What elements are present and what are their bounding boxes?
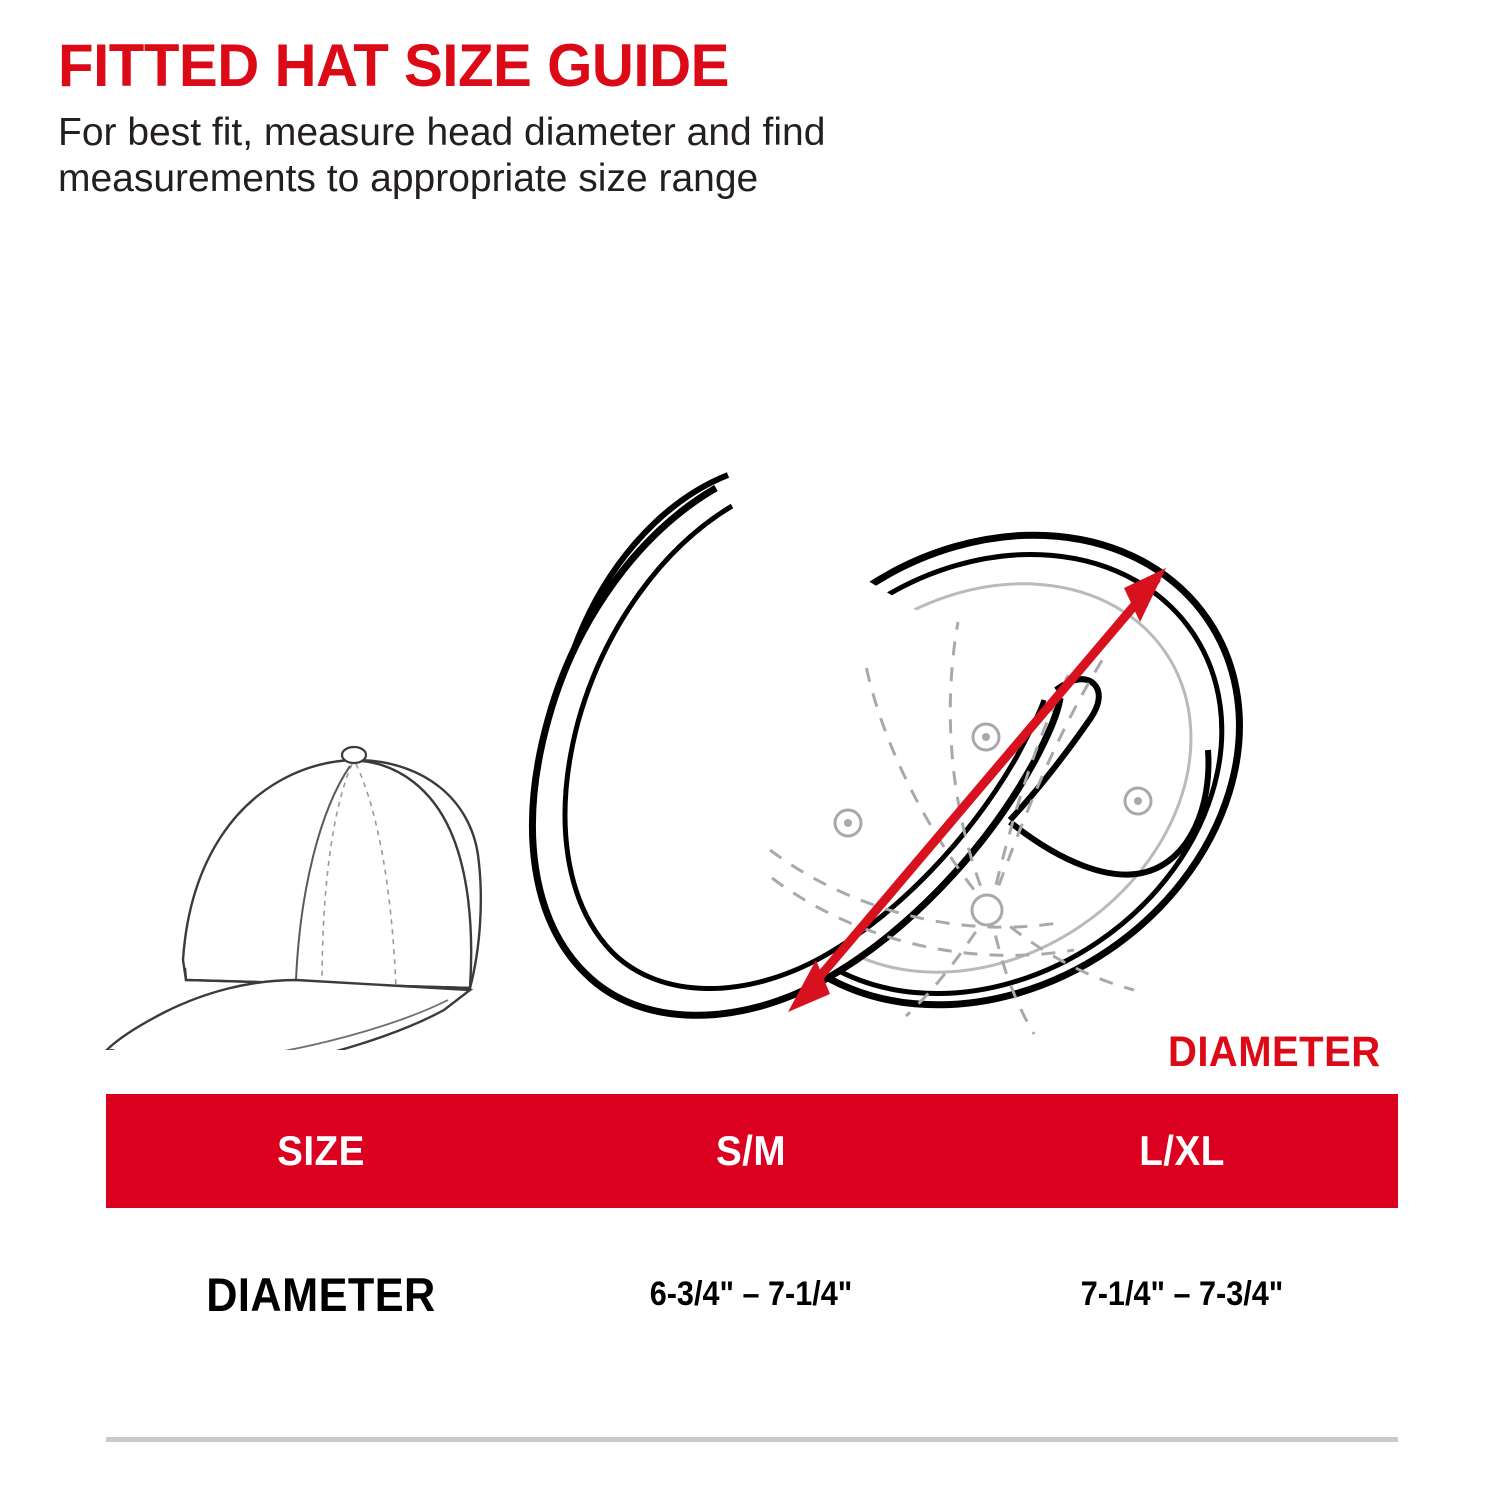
table-row: DIAMETER 6-3/4" – 7-1/4" 7-1/4" – 7-3/4" [106, 1208, 1398, 1380]
page-header: FITTED HAT SIZE GUIDE For best fit, meas… [58, 36, 1058, 202]
eyelet-dot-3 [1134, 797, 1142, 805]
table-header-lxl: L/XL [983, 1127, 1380, 1175]
table-row-label-diameter: DIAMETER [123, 1267, 519, 1322]
large-hat-inverted [532, 439, 1330, 1050]
table-cell-diameter-sm: 6-3/4" – 7-1/4" [558, 1275, 945, 1314]
large-hat-center-button [972, 895, 1002, 925]
small-hat-crown [183, 760, 481, 988]
eyelet-dot-1 [982, 733, 990, 741]
size-table: SIZE S/M L/XL DIAMETER 6-3/4" – 7-1/4" 7… [106, 1094, 1398, 1380]
page-title: FITTED HAT SIZE GUIDE [58, 36, 1028, 96]
table-cell-diameter-lxl: 7-1/4" – 7-3/4" [988, 1275, 1377, 1314]
page-subtitle: For best fit, measure head diameter and … [58, 110, 1018, 202]
diameter-callout-label: DIAMETER [1168, 1028, 1381, 1077]
eyelet-dot-2 [844, 819, 852, 827]
table-header-sm: S/M [553, 1127, 949, 1175]
table-header-size: SIZE [123, 1127, 519, 1175]
bottom-divider [106, 1437, 1398, 1442]
hat-illustration-svg: Milwaukee [0, 250, 1500, 1050]
table-header-row: SIZE S/M L/XL [106, 1094, 1398, 1208]
small-hat-button [342, 747, 366, 763]
small-hat-side-view: Milwaukee [98, 747, 481, 1050]
hat-illustration-area: Milwaukee [0, 250, 1500, 1050]
